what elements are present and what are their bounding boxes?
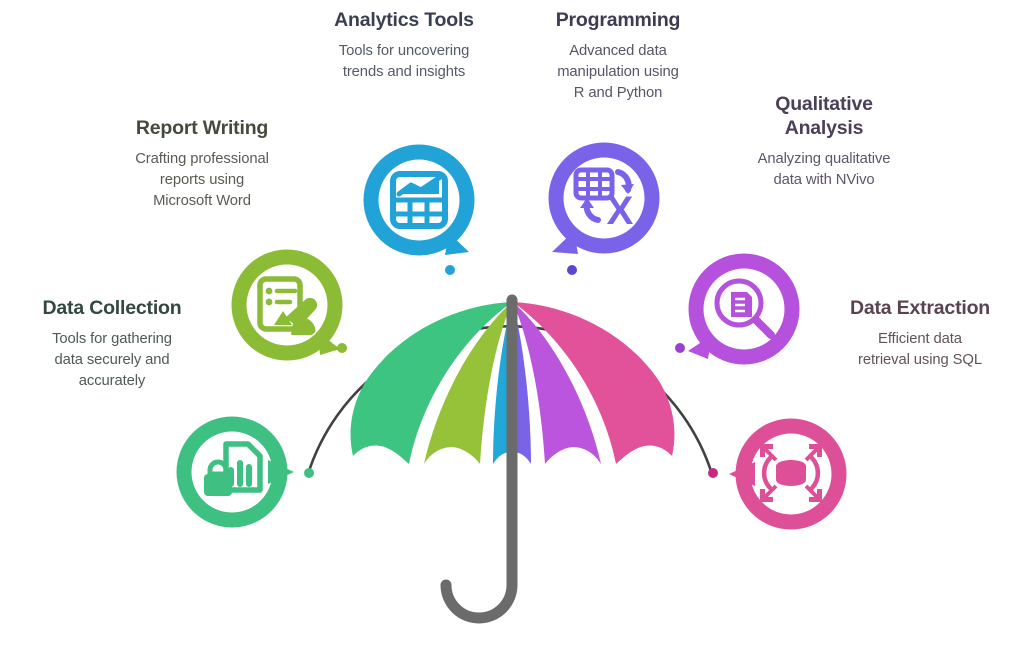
code-table-exchange-icon: X — [576, 170, 634, 233]
badge-extraction[interactable] — [729, 426, 839, 522]
dot-report — [337, 343, 347, 353]
badge-collection[interactable] — [184, 424, 294, 520]
badge-analytics[interactable] — [371, 152, 469, 255]
node-analytics-title: Analytics Tools — [294, 8, 514, 32]
clipboard-hand-writing-icon — [260, 279, 317, 335]
dot-extraction — [708, 468, 718, 478]
panel-pink — [513, 302, 674, 464]
node-extraction-desc: Efficient dataretrieval using SQL — [822, 329, 1018, 371]
node-report-title: Report Writing — [104, 116, 300, 140]
database-expand-icon — [760, 444, 822, 502]
magnifier-document-icon — [717, 281, 771, 335]
svg-text:X: X — [607, 189, 634, 233]
panel-orchid — [513, 302, 601, 464]
node-qualitative-title: QualitativeAnalysis — [718, 92, 930, 140]
node-collection-desc: Tools for gatheringdata securely andaccu… — [16, 329, 208, 392]
node-analytics-desc: Tools for uncoveringtrends and insights — [294, 41, 514, 83]
umbrella-handle — [446, 300, 512, 618]
panel-lime — [424, 302, 512, 464]
node-programming-desc: Advanced datamanipulation usingR and Pyt… — [518, 41, 718, 104]
dot-analytics — [445, 265, 455, 275]
badge-qualitative[interactable] — [688, 261, 792, 359]
panel-purple — [513, 302, 531, 464]
node-analytics: Analytics Tools Tools for uncoveringtren… — [294, 8, 514, 83]
secure-data-lock-icon — [204, 444, 260, 496]
node-collection-title: Data Collection — [16, 296, 208, 320]
panel-green — [351, 302, 512, 464]
node-collection: Data Collection Tools for gatheringdata … — [16, 296, 208, 392]
arc-dots — [304, 265, 718, 478]
dot-qualitative — [675, 343, 685, 353]
panel-blue — [493, 302, 512, 464]
dot-collection — [304, 468, 314, 478]
badge-programming[interactable]: X — [552, 150, 652, 254]
node-programming-title: Programming — [518, 8, 718, 32]
node-qualitative: QualitativeAnalysis Analyzing qualitativ… — [718, 92, 930, 191]
connector-arc — [308, 326, 712, 474]
node-programming: Programming Advanced datamanipulation us… — [518, 8, 718, 104]
dot-programming — [567, 265, 577, 275]
analytics-chart-icon — [393, 174, 445, 226]
umbrella-canopy — [351, 302, 675, 464]
node-extraction: Data Extraction Efficient dataretrieval … — [822, 296, 1018, 371]
node-qualitative-desc: Analyzing qualitativedata with NVivo — [718, 149, 930, 191]
node-report: Report Writing Crafting professionalrepo… — [104, 116, 300, 212]
node-report-desc: Crafting professionalreports usingMicros… — [104, 149, 300, 212]
badge-report[interactable] — [239, 257, 340, 355]
node-extraction-title: Data Extraction — [822, 296, 1018, 320]
